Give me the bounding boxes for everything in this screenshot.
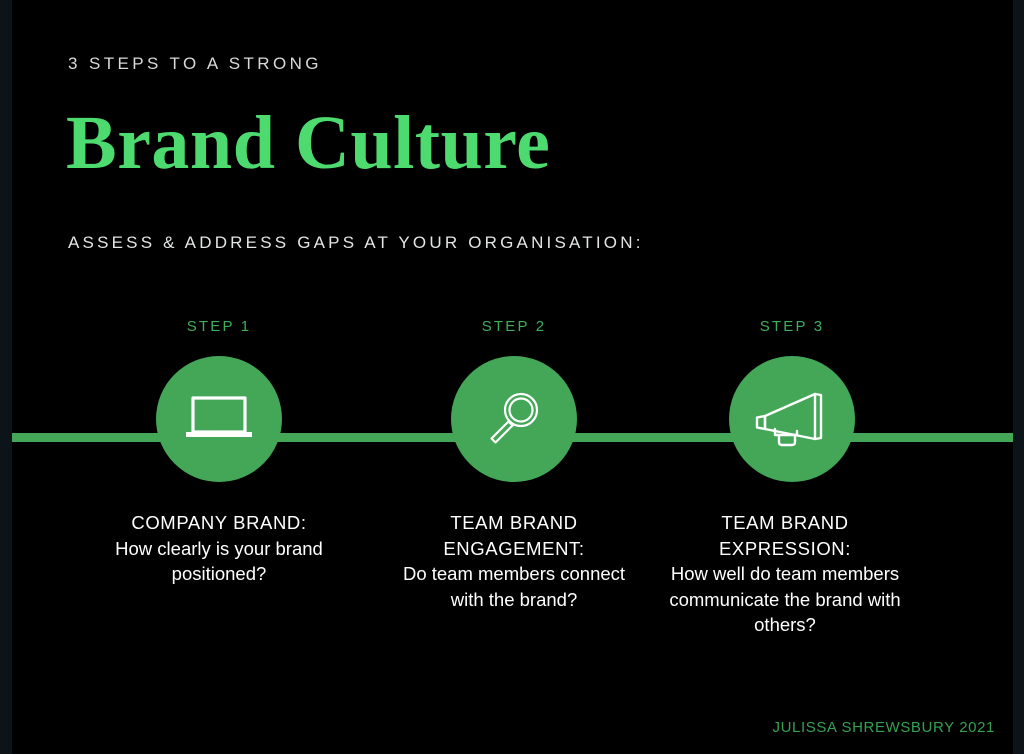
megaphone-icon	[751, 389, 833, 449]
right-gutter	[1013, 0, 1024, 754]
page-title: Brand Culture	[66, 100, 550, 187]
credit-text: JULISSA SHREWSBURY 2021	[772, 719, 995, 736]
step-label-1: STEP 1	[94, 318, 344, 338]
step-caption-3: TEAM BRAND EXPRESSION: How well do team …	[660, 510, 910, 638]
step-body-3: How well do team members communicate the…	[660, 561, 910, 638]
step-body-1: How clearly is your brand positioned?	[94, 536, 344, 587]
left-gutter	[0, 0, 12, 754]
step-circle-3[interactable]	[729, 356, 855, 482]
step-body-2: Do team members connect with the brand?	[389, 561, 639, 612]
slide-infographic: 3 STEPS TO A STRONG Brand Culture ASSESS…	[0, 0, 1024, 754]
steps-container: STEP 1 COMPANY BRAND: Ho	[12, 318, 1013, 678]
step-heading-3: TEAM BRAND EXPRESSION:	[660, 510, 910, 561]
step-heading-1: COMPANY BRAND:	[94, 510, 344, 536]
slide-canvas: 3 STEPS TO A STRONG Brand Culture ASSESS…	[12, 0, 1013, 754]
kicker-text: 3 STEPS TO A STRONG	[68, 54, 322, 74]
step-item-1[interactable]: STEP 1 COMPANY BRAND: Ho	[94, 318, 344, 587]
step-label-3: STEP 3	[667, 318, 917, 338]
step-heading-2: TEAM BRAND ENGAGEMENT:	[389, 510, 639, 561]
step-circle-2[interactable]	[451, 356, 577, 482]
step-item-3[interactable]: STEP 3	[667, 318, 917, 638]
step-icon-wrap-2	[389, 356, 639, 506]
step-label-2: STEP 2	[389, 318, 639, 338]
laptop-icon	[182, 392, 256, 446]
step-icon-wrap-1	[94, 356, 344, 506]
magnifying-glass-icon	[482, 387, 546, 451]
step-caption-2: TEAM BRAND ENGAGEMENT: Do team members c…	[389, 510, 639, 612]
step-caption-1: COMPANY BRAND: How clearly is your brand…	[94, 510, 344, 587]
step-circle-1[interactable]	[156, 356, 282, 482]
subtitle-text: ASSESS & ADDRESS GAPS AT YOUR ORGANISATI…	[68, 233, 644, 253]
step-icon-wrap-3	[667, 356, 917, 506]
step-item-2[interactable]: STEP 2 TEAM BRAND	[389, 318, 639, 612]
